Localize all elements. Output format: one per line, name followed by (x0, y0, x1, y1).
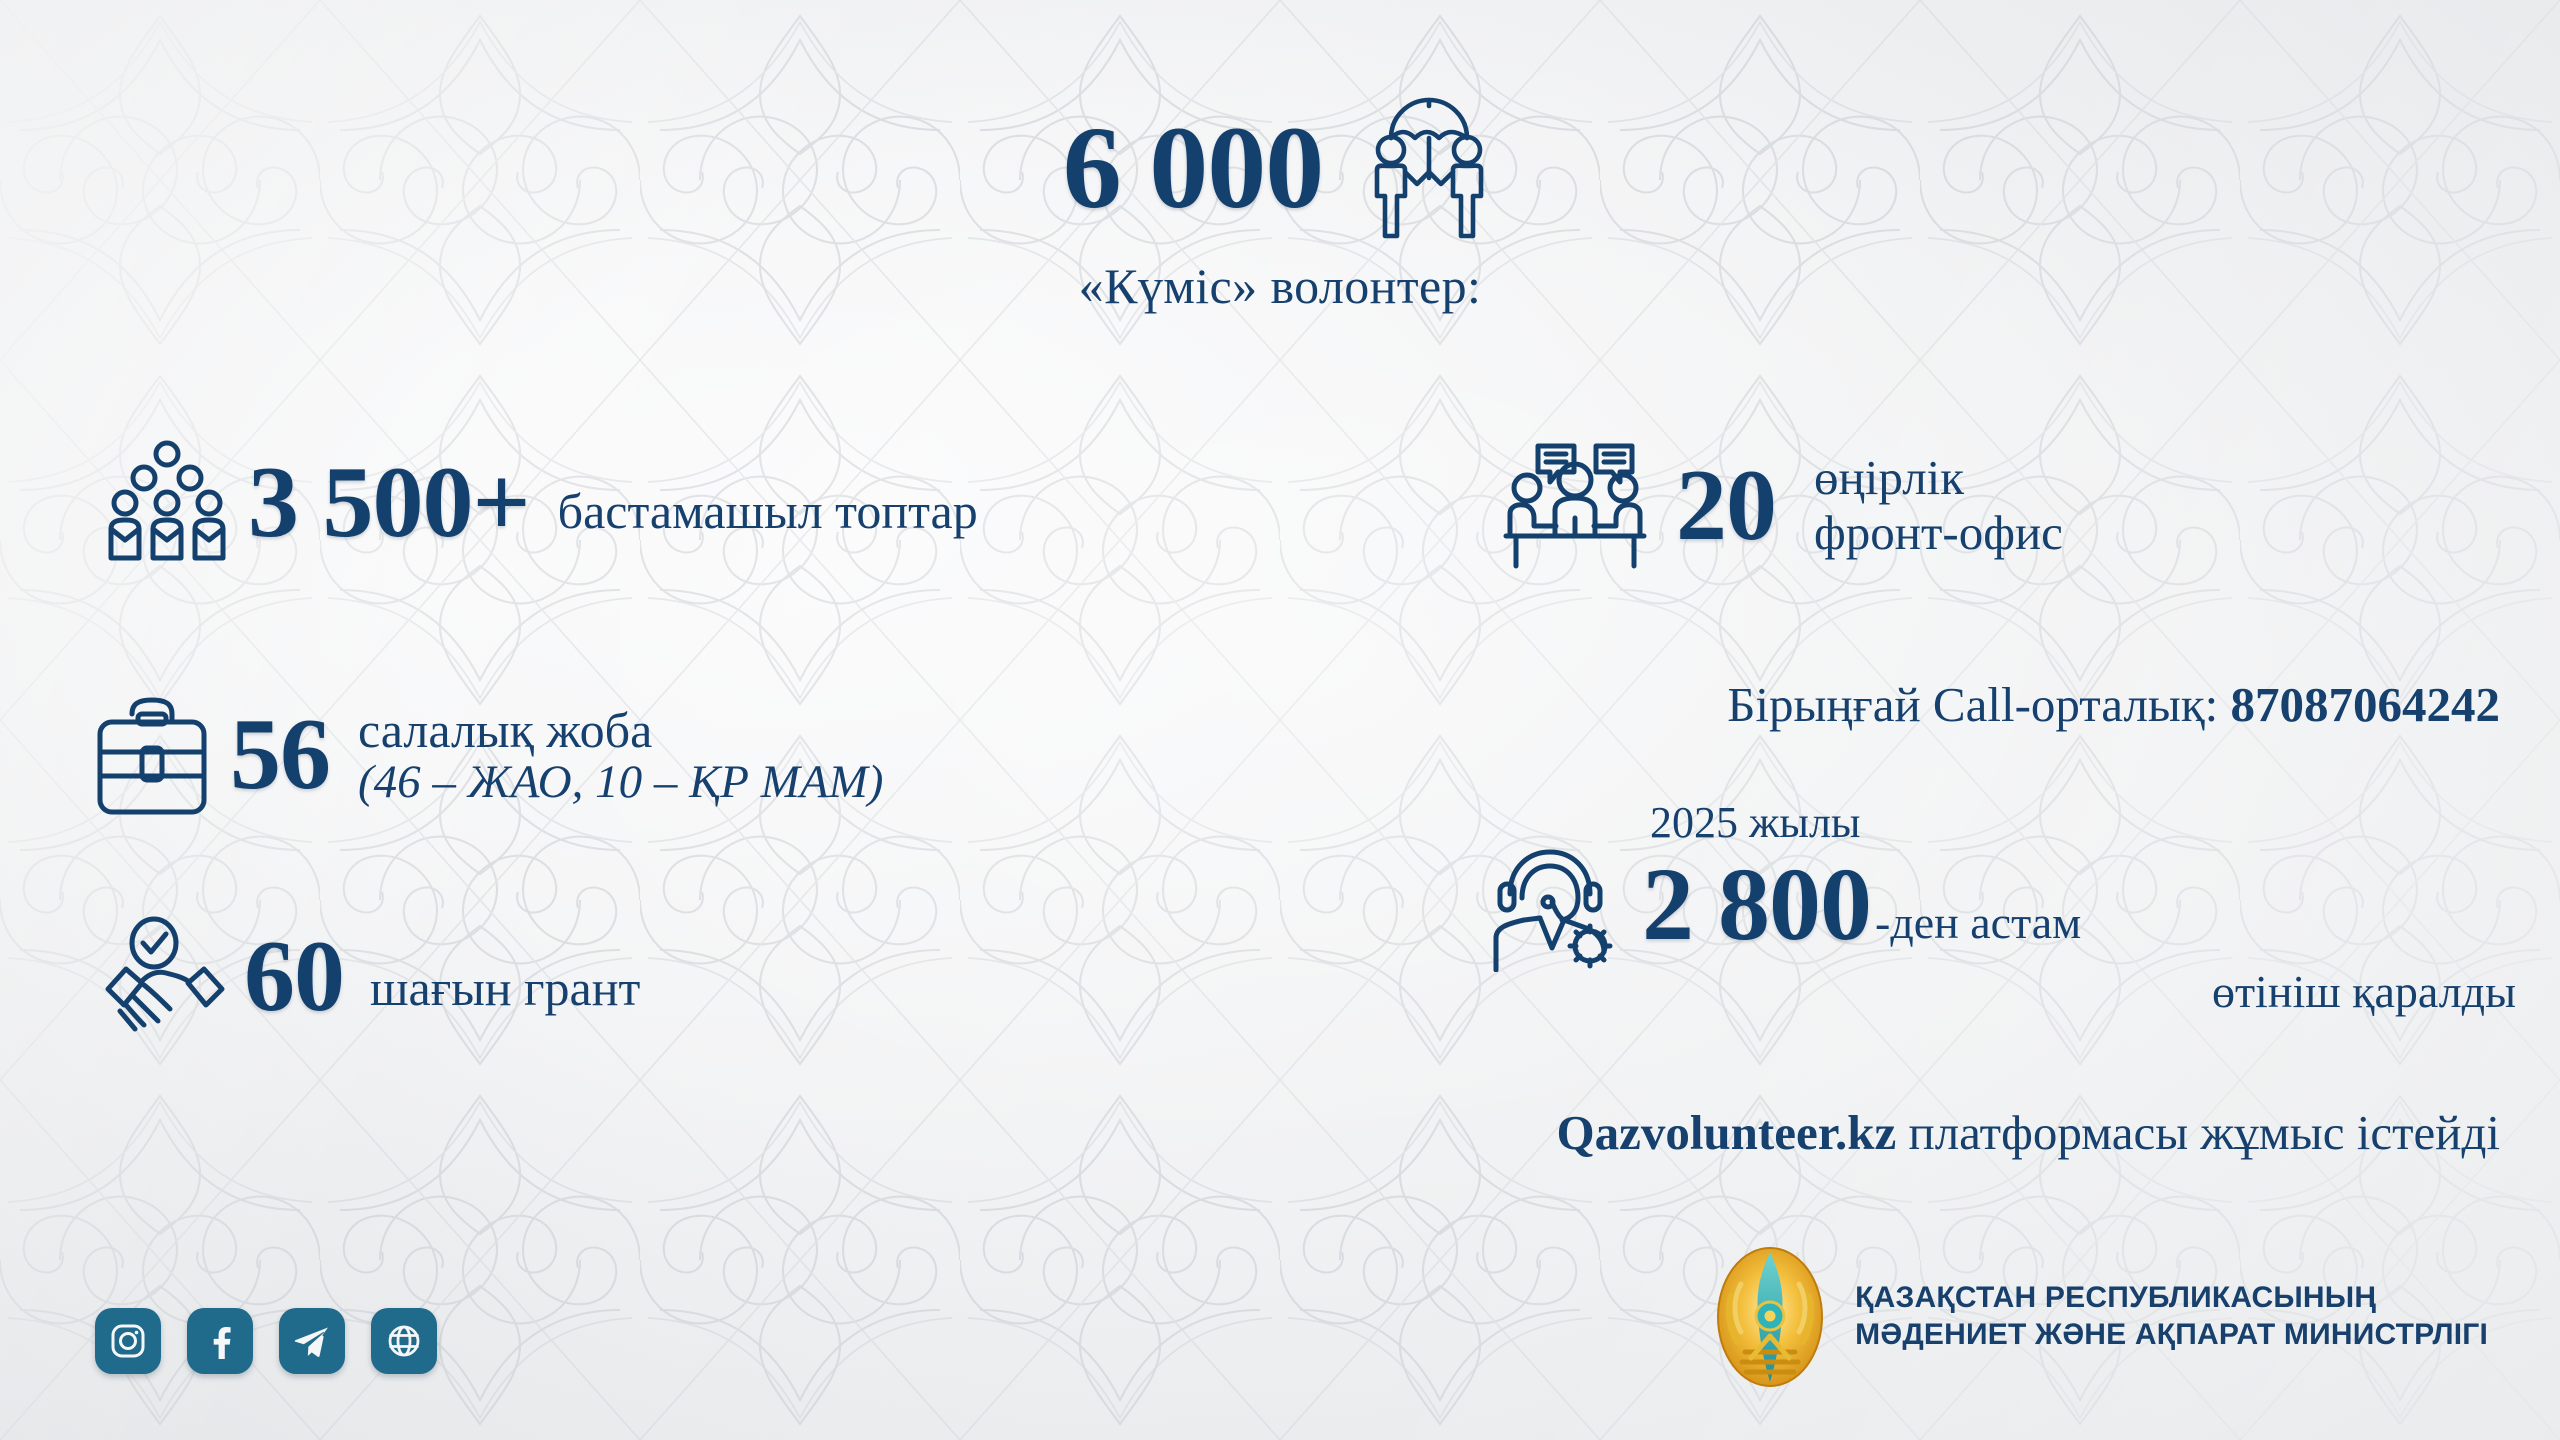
call-center-line: Бірыңғай Call-орталық: 87087064242 (1727, 680, 2500, 731)
stat-initiative-groups: 3 500+ бастамашыл топтар (108, 440, 978, 566)
front-office-label-line1: өңірлік (1814, 453, 2063, 504)
website-globe-icon[interactable] (371, 1308, 437, 1374)
platform-name[interactable]: Qazvolunteer.kz (1556, 1105, 1896, 1160)
meeting-table-icon (1500, 440, 1650, 572)
requests-suffix-line2: өтініш қаралды (1490, 968, 2520, 1016)
groups-label: бастамашыл топтар (558, 485, 978, 537)
grants-label: шағын грант (370, 962, 640, 1014)
instagram-icon[interactable] (95, 1308, 161, 1374)
social-links (95, 1308, 437, 1374)
call-center-label: Бірыңғай Call-орталық: (1727, 677, 2218, 732)
stat-branch-projects: 56 салалық жоба (46 – ЖАО, 10 – ҚР МАМ) (92, 690, 883, 820)
ministry-name: ҚАЗАҚСТАН РЕСПУБЛИКАСЫНЫҢ МӘДЕНИЕТ ЖӘНЕ … (1855, 1280, 2488, 1353)
call-center-number: 87087064242 (2231, 677, 2501, 732)
stat-small-grants: 60 шағын грант (104, 915, 640, 1039)
two-people-umbrella-icon (1361, 92, 1497, 244)
ministry-brand: ҚАЗАҚСТАН РЕСПУБЛИКАСЫНЫҢ МӘДЕНИЕТ ЖӘНЕ … (1711, 1244, 2488, 1390)
hero-number: 6 000 (1063, 112, 1324, 224)
ministry-line2: МӘДЕНИЕТ ЖӘНЕ АҚПАРАТ МИНИСТРЛІГІ (1855, 1317, 2488, 1354)
requests-suffix-line1: -ден астам (1875, 899, 2081, 947)
facebook-icon[interactable] (187, 1308, 253, 1374)
platform-line: Qazvolunteer.kz платформасы жұмыс істейд… (1556, 1108, 2500, 1159)
platform-text: платформасы жұмыс істейді (1909, 1105, 2501, 1160)
header-block: 6 000 «Күміс» волонтер: (0, 92, 2560, 312)
projects-label-line1: салалық жоба (358, 704, 883, 756)
hero-subtitle: «Күміс» волонтер: (1079, 260, 1482, 312)
stat-front-office: 20 өңірлік фронт-офис (1500, 440, 2063, 572)
handshake-check-icon (104, 915, 226, 1039)
groups-number: 3 500+ (248, 455, 530, 552)
projects-label-line2: (46 – ЖАО, 10 – ҚР МАМ) (358, 758, 883, 807)
stat-requests-processed: 2025 жылы 2 800 -ден астам (1490, 800, 2520, 1016)
front-office-label-line2: фронт-офис (1814, 508, 2063, 559)
grants-number: 60 (244, 929, 344, 1026)
briefcase-icon (92, 690, 212, 820)
infographic-poster: 6 000 «Күміс» волонтер: (0, 0, 2560, 1440)
telegram-icon[interactable] (279, 1308, 345, 1374)
front-office-number: 20 (1676, 458, 1776, 555)
ministry-line1: ҚАЗАҚСТАН РЕСПУБЛИКАСЫНЫҢ (1855, 1280, 2488, 1317)
projects-number: 56 (230, 707, 330, 804)
requests-number: 2 800 (1642, 856, 1871, 955)
headset-support-gear-icon (1490, 840, 1620, 972)
people-group-icon (108, 440, 226, 566)
kazakhstan-state-emblem (1711, 1244, 1829, 1390)
